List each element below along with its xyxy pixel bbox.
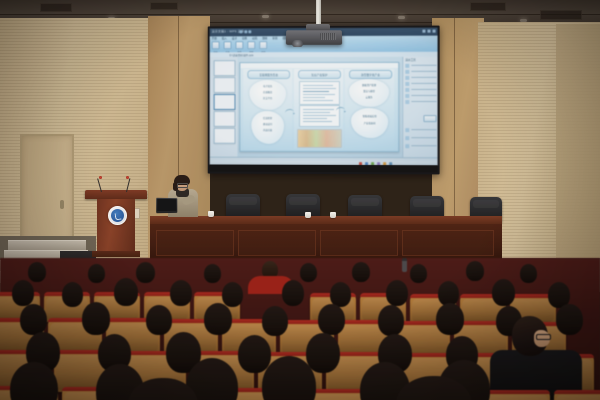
audience-head [352,262,370,282]
audience-seating-area [0,258,600,400]
tab-0[interactable]: 开始 [212,36,217,40]
audience-head [492,279,515,306]
tab-5[interactable]: 放映 [262,36,267,40]
slide-column-1-header-text: 互联网服务形态 [259,73,278,77]
slide-thumbnail [214,111,236,127]
slide-editing-stage: 互联网服务形态 电子商务 在线教育 社交平台 信息检索 移动支付 内容分发 [237,57,402,157]
slide-cloud-text: 智能终端应用 [351,116,388,119]
slide-column-1-header: 互联网服务形态 [247,70,290,79]
current-slide: 互联网服务形态 电子商务 在线教育 社交平台 信息检索 移动支付 内容分发 [239,62,399,152]
slide-thumbnail [214,60,236,76]
ppt-task-pane[interactable]: 演示工具 [402,57,437,158]
window-buttons[interactable] [422,29,435,32]
pane-item[interactable] [405,93,436,98]
tab-4[interactable]: 动画 [252,36,257,40]
slide-cloud: 信息检索 移动支付 内容分发 [251,111,284,144]
slide-thumbnail [214,77,236,93]
audience-head [146,305,172,335]
tab-1[interactable]: 插入 [222,36,227,40]
auditorium-seat [554,390,600,400]
slide-cloud-text: 内容分发 [251,130,284,133]
audience-head [62,282,83,307]
audience-head [204,264,221,283]
screen-lower-edge [210,165,438,173]
projector-vent [320,33,336,40]
slide-column-1: 互联网服务形态 电子商务 在线教育 社交平台 信息检索 移动支付 内容分发 [243,69,292,149]
head-table-top [150,216,502,224]
audience-head [114,278,138,306]
audience-head [136,262,155,283]
eyeglasses-icon [177,183,188,188]
audience-head [262,306,288,336]
projector-lens-icon [292,40,303,47]
pane-item[interactable] [405,99,436,104]
wall-right-far [556,24,600,274]
audience-head [82,302,110,335]
slide-cloud-text: 移动支付 [251,124,284,127]
tab-3[interactable]: 切换 [242,36,247,40]
projected-image: 演示文稿1 - WPS 演示 开始 插入 设计 切换 动画 放映 审阅 视图 粘… [210,28,438,166]
slide-thumbnail [214,128,236,144]
water-cup [305,212,311,218]
audience-head [20,304,47,335]
pane-item[interactable] [405,143,436,148]
tab-2[interactable]: 设计 [232,36,237,40]
lectern-top [85,190,147,199]
audience-head [466,261,484,281]
slide-thumbnail-pane[interactable] [210,57,239,157]
audience-head [170,280,192,306]
audience-head [386,280,408,306]
slide-cloud: 数据资产管理 算法与模型 云服务 [349,79,389,107]
lecture-hall-photo: 演示文稿1 - WPS 演示 开始 插入 设计 切换 动画 放映 审阅 视图 粘… [0,0,600,400]
slide-cloud-text: 云服务 [349,97,389,100]
slide-column-3: 新型数字化产业 数据资产管理 算法与模型 云服务 智能终端应用 产业链协同 [345,69,394,149]
slide-cloud-text: 产业链协同 [351,123,388,126]
slide-arrow [285,109,295,117]
audience-head [88,264,105,283]
audience-head [222,282,243,307]
slide-photo [297,129,342,148]
projector-mount-pole [316,0,321,26]
audience-head [282,280,304,306]
slide-cloud-text: 算法与模型 [349,91,389,94]
microphone-head-icon [126,176,129,179]
audience-head [520,264,537,283]
tab-6[interactable]: 审阅 [272,36,277,40]
pane-item[interactable] [405,135,436,140]
audience-head [306,333,340,373]
slide-cloud: 电子商务 在线教育 社交平台 [249,80,286,110]
audience-head [238,335,271,373]
pane-item[interactable] [405,75,436,80]
ppt-pane-title: 演示工具 [405,58,415,62]
water-cup [330,212,336,218]
slide-arrow [336,107,346,115]
pane-item[interactable] [405,81,436,86]
slide-column-3-header-text: 新型数字化产业 [361,72,380,76]
audience-head [378,305,404,336]
slide-cloud-text: 在线教育 [249,92,286,95]
slide-cloud-text: 信息检索 [251,118,284,121]
eyeglasses-icon [536,334,551,340]
ribbon-tabs[interactable]: 开始 插入 设计 切换 动画 放映 审阅 视图 [212,36,288,40]
audience-head [204,303,232,335]
pane-apply-button[interactable] [423,115,436,122]
slide-column-2-header-text: 知识产权保护 [311,72,327,76]
water-bottle [402,258,407,272]
presenter-laptop [156,198,177,213]
slide-cloud-text: 电子商务 [249,86,286,89]
audience-head [300,263,317,282]
slide-cloud-text: 社交平台 [249,98,286,101]
pane-item[interactable] [405,63,436,68]
quick-access-toolbar[interactable] [239,30,251,33]
slide-thumbnail [214,94,236,110]
microphone-head-icon [99,176,102,179]
door-handle-icon[interactable] [60,200,64,209]
audience-head [556,304,583,335]
slide-doc-card [299,81,340,105]
audience-head [12,280,34,306]
slide-cloud-text: 数据资产管理 [349,85,389,88]
slide-doc-card [299,105,340,127]
slide-cloud: 智能终端应用 产业链协同 [351,108,388,138]
slide-column-2-header: 知识产权保护 [298,70,341,79]
audience-head [28,262,46,282]
audience-head [318,304,345,335]
projection-screen: 演示文稿1 - WPS 演示 开始 插入 设计 切换 动画 放映 审阅 视图 粘… [208,26,440,175]
head-table-front [150,224,502,262]
lectern-base [92,251,140,257]
water-cup [208,211,214,217]
university-crest-icon [108,206,127,225]
audience-head [436,303,464,335]
slide-column-3-header: 新型数字化产业 [349,70,392,79]
audience-head [410,264,427,283]
pane-item[interactable] [405,87,436,92]
pane-item[interactable] [405,127,436,132]
pane-item[interactable] [405,69,436,74]
